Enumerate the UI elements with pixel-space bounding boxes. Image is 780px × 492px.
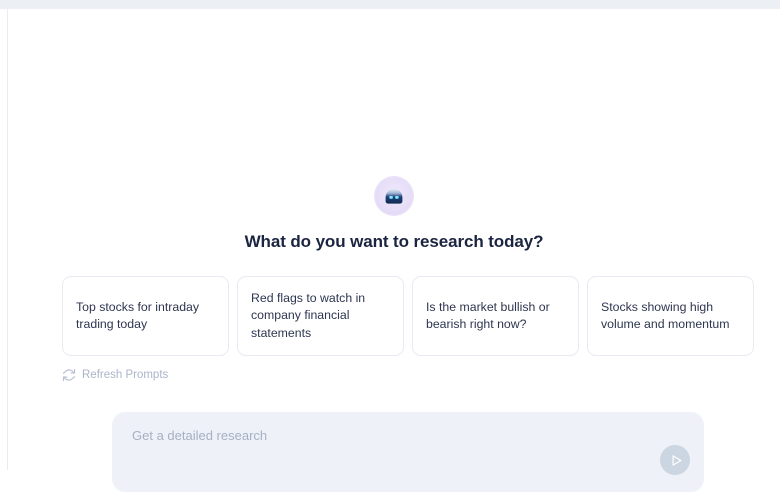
top-strip xyxy=(0,0,780,9)
main-content: What do you want to research today? Top … xyxy=(8,9,780,470)
prompt-card[interactable]: Red flags to watch in company financial … xyxy=(237,276,404,356)
robot-assistant-icon xyxy=(375,177,413,215)
send-play-icon xyxy=(667,453,684,468)
prompt-card[interactable]: Top stocks for intraday trading today xyxy=(62,276,229,356)
refresh-prompts-button[interactable]: Refresh Prompts xyxy=(62,368,168,382)
prompt-card-label: Stocks showing high volume and momentum xyxy=(601,299,740,334)
prompt-card-label: Is the market bullish or bearish right n… xyxy=(426,299,565,334)
prompt-card[interactable]: Is the market bullish or bearish right n… xyxy=(412,276,579,356)
app-root: What do you want to research today? Top … xyxy=(0,0,780,470)
refresh-icon xyxy=(62,368,76,382)
research-input[interactable]: Get a detailed research xyxy=(132,427,267,445)
page-title: What do you want to research today? xyxy=(8,231,780,253)
prompt-card-label: Red flags to watch in company financial … xyxy=(251,290,390,343)
prompt-card-label: Top stocks for intraday trading today xyxy=(76,299,215,334)
refresh-prompts-label: Refresh Prompts xyxy=(82,368,168,382)
hero-section: What do you want to research today? xyxy=(8,177,780,253)
prompt-cards: Top stocks for intraday trading today Re… xyxy=(62,276,754,356)
send-button[interactable] xyxy=(660,445,690,475)
prompt-card[interactable]: Stocks showing high volume and momentum xyxy=(587,276,754,356)
composer-panel[interactable]: Get a detailed research xyxy=(112,412,704,492)
